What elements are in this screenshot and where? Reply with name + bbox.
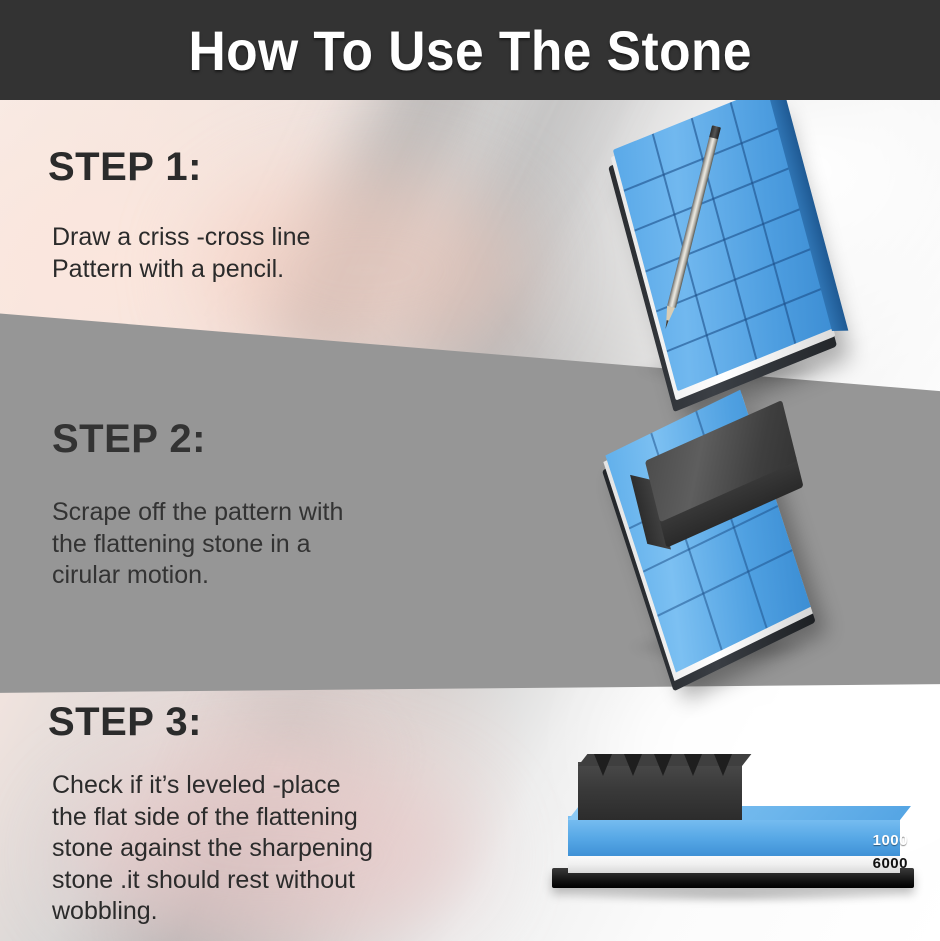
grit-label-1000: 1000 (873, 832, 908, 849)
step-3-block: STEP 3: Check if it’s leveled -place the… (48, 702, 373, 928)
step-1-illustration (600, 100, 940, 400)
infographic-poster: How To Use The Stone STEP 1: Draw a cris… (0, 0, 940, 941)
sharpening-stone-stack (613, 87, 835, 398)
step-2-illustration (600, 392, 940, 682)
step-1-block: STEP 1: Draw a criss -cross line Pattern… (48, 147, 310, 285)
step-3-heading: STEP 3: (48, 702, 373, 742)
step-1-body: Draw a criss -cross line Pattern with a … (52, 222, 310, 285)
stone-layer-white (568, 853, 900, 873)
step-3-body: Check if it’s leveled -place the flat si… (52, 770, 373, 928)
step-2-block: STEP 2: Scrape off the pattern with the … (52, 419, 343, 592)
step-3-illustration: 1000 6000 (530, 740, 930, 905)
step-1-heading: STEP 1: (48, 147, 310, 187)
stone-layer-blue (568, 816, 900, 856)
step-2-heading: STEP 2: (52, 419, 343, 459)
drop-shadow (568, 888, 898, 904)
step-2-body: Scrape off the pattern with the flatteni… (52, 497, 343, 592)
header-bar: How To Use The Stone (0, 0, 940, 100)
page-title: How To Use The Stone (188, 18, 752, 83)
grit-label-6000: 6000 (873, 855, 908, 872)
